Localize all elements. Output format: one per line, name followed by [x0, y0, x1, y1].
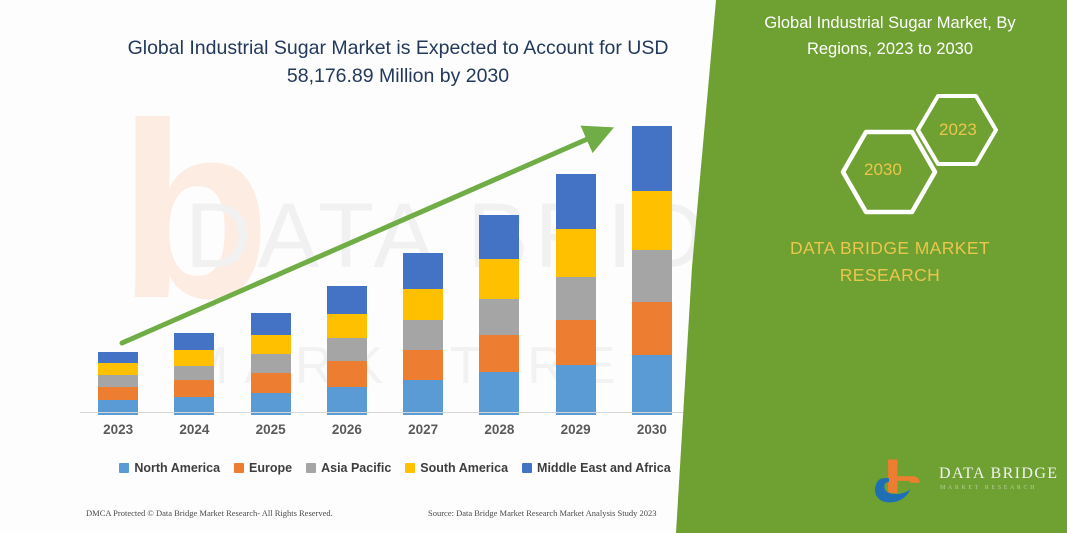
bridge-logo-icon [875, 455, 931, 505]
hexagon-group: 2030 2023 [820, 92, 1020, 217]
bar-segment [403, 380, 443, 415]
company-logo: DATA BRIDGE MARKET RESEARCH [875, 455, 1065, 513]
x-axis-label: 2023 [88, 422, 148, 437]
infographic-slide: b DATA BRIDGE MARKET RESEARCH Global Ind… [0, 0, 1067, 533]
x-axis-label: 2025 [241, 422, 301, 437]
bar-2023[interactable] [98, 352, 138, 415]
legend-label: Asia Pacific [321, 461, 391, 475]
footer-source: Source: Data Bridge Market Research Mark… [428, 508, 657, 518]
bar-2030[interactable] [632, 126, 672, 415]
chart-title: Global Industrial Sugar Market is Expect… [118, 34, 678, 90]
footer: DMCA Protected © Data Bridge Market Rese… [0, 508, 700, 526]
bar-segment [479, 372, 519, 415]
x-axis-label: 2030 [622, 422, 682, 437]
bar-segment [98, 363, 138, 375]
legend-label: Europe [249, 461, 292, 475]
bar-segment [632, 126, 672, 191]
legend-swatch-icon [119, 463, 129, 473]
legend-swatch-icon [306, 463, 316, 473]
x-axis-label: 2026 [317, 422, 377, 437]
bar-segment [632, 355, 672, 415]
legend-item[interactable]: North America [119, 461, 220, 475]
logo-wordmark: DATA BRIDGE [939, 465, 1058, 483]
brand-line-1: DATA BRIDGE MARKET [790, 238, 990, 258]
x-axis-labels: 20232024202520262027202820292030 [80, 422, 690, 446]
brand-name: DATA BRIDGE MARKET RESEARCH [730, 235, 1050, 289]
legend-label: South America [420, 461, 508, 475]
legend-swatch-icon [405, 463, 415, 473]
bar-segment [632, 250, 672, 303]
bar-segment [251, 354, 291, 373]
legend-label: North America [134, 461, 220, 475]
footer-copyright: DMCA Protected © Data Bridge Market Rese… [86, 508, 333, 518]
hexagon-2023-label: 2023 [939, 120, 977, 140]
bar-segment [98, 387, 138, 401]
bar-segment [98, 375, 138, 387]
legend-item[interactable]: South America [405, 461, 508, 475]
brand-line-2: RESEARCH [840, 265, 940, 285]
x-axis-label: 2024 [164, 422, 224, 437]
bar-segment [174, 380, 214, 397]
x-axis-label: 2028 [469, 422, 529, 437]
legend-item[interactable]: Middle East and Africa [522, 461, 671, 475]
panel-title: Global Industrial Sugar Market, By Regio… [730, 10, 1050, 62]
legend-swatch-icon [522, 463, 532, 473]
bar-segment [327, 387, 367, 415]
bar-segment [251, 373, 291, 393]
growth-arrow-icon [100, 115, 620, 355]
bar-segment [327, 361, 367, 386]
bar-segment [174, 366, 214, 381]
x-axis-label: 2027 [393, 422, 453, 437]
bar-segment [632, 302, 672, 355]
panel-content: Global Industrial Sugar Market, By Regio… [710, 0, 1067, 533]
bar-segment [556, 365, 596, 415]
legend-item[interactable]: Europe [234, 461, 292, 475]
logo-subtitle: MARKET RESEARCH [940, 485, 1037, 491]
hexagon-2030-label: 2030 [864, 160, 902, 180]
legend-label: Middle East and Africa [537, 461, 671, 475]
bar-segment [632, 191, 672, 250]
x-axis-line [80, 412, 690, 413]
x-axis-label: 2029 [546, 422, 606, 437]
hexagon-shapes [820, 92, 1020, 217]
chart-legend: North AmericaEuropeAsia PacificSouth Ame… [105, 461, 685, 475]
legend-item[interactable]: Asia Pacific [306, 461, 391, 475]
legend-swatch-icon [234, 463, 244, 473]
